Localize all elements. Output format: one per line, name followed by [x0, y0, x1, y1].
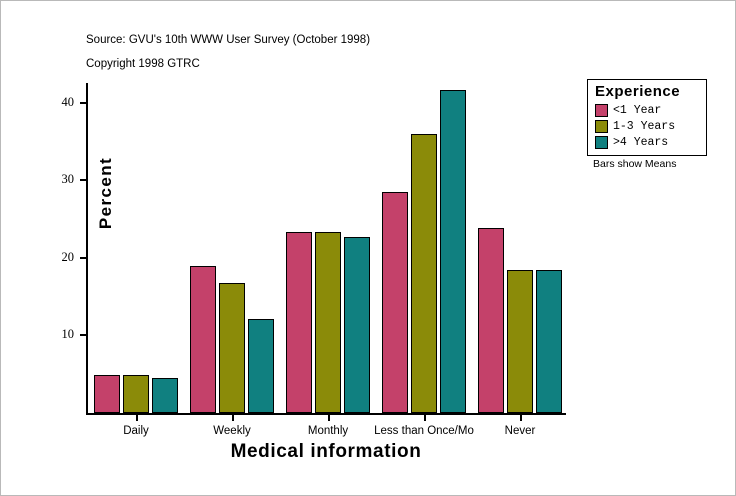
x-axis-category-label: Weekly [213, 425, 251, 437]
plot-area: Percent 10203040 DailyWeeklyMonthlyLess … [86, 83, 566, 415]
legend-entry: 1-3 Years [595, 118, 700, 134]
bar [94, 375, 120, 413]
y-axis-tick: 40 [80, 102, 88, 104]
y-axis-tick-label: 20 [62, 250, 75, 265]
x-axis-category-label: Monthly [308, 425, 348, 437]
bar [152, 378, 178, 413]
legend-entry: <1 Year [595, 102, 700, 118]
x-axis-category-label: Less than Once/Mo [374, 425, 474, 437]
bar [286, 232, 312, 413]
source-note: Source: GVU's 10th WWW User Survey (Octo… [86, 34, 370, 46]
x-axis-tick [136, 413, 138, 421]
legend-entry: >4 Years [595, 134, 700, 150]
bar [507, 270, 533, 413]
legend-entry-label: <1 Year [613, 104, 661, 117]
bar [190, 266, 216, 413]
x-axis-tick [328, 413, 330, 421]
legend-entry-label: 1-3 Years [613, 120, 675, 133]
bar [478, 228, 504, 413]
bar [536, 270, 562, 413]
bar [123, 375, 149, 413]
y-axis-tick-label: 40 [62, 95, 75, 110]
bar [344, 237, 370, 413]
chart-screenshot: Source: GVU's 10th WWW User Survey (Octo… [0, 0, 736, 496]
x-axis-category-label: Never [505, 425, 536, 437]
bar [315, 232, 341, 413]
bar [248, 319, 274, 413]
x-axis-tick [232, 413, 234, 421]
x-axis-tick [520, 413, 522, 421]
copyright-note: Copyright 1998 GTRC [86, 58, 200, 70]
x-axis-title: Medical information [86, 441, 566, 463]
legend-color-swatch [595, 120, 608, 133]
y-axis-tick: 20 [80, 257, 88, 259]
legend-entries: <1 Year1-3 Years>4 Years [595, 102, 700, 150]
y-axis-title: Percent [96, 123, 116, 263]
y-axis-tick: 10 [80, 334, 88, 336]
y-axis-tick-label: 10 [62, 327, 75, 342]
legend: Experience <1 Year1-3 Years>4 Years [587, 79, 707, 156]
legend-color-swatch [595, 136, 608, 149]
y-axis-tick: 30 [80, 179, 88, 181]
legend-color-swatch [595, 104, 608, 117]
x-axis-tick [424, 413, 426, 421]
bar [411, 134, 437, 413]
bar [382, 192, 408, 413]
legend-footnote: Bars show Means [593, 158, 676, 170]
x-axis-category-label: Daily [123, 425, 149, 437]
legend-title: Experience [595, 83, 700, 100]
y-axis-tick-label: 30 [62, 172, 75, 187]
legend-entry-label: >4 Years [613, 136, 668, 149]
bar [219, 283, 245, 413]
bar [440, 90, 466, 414]
